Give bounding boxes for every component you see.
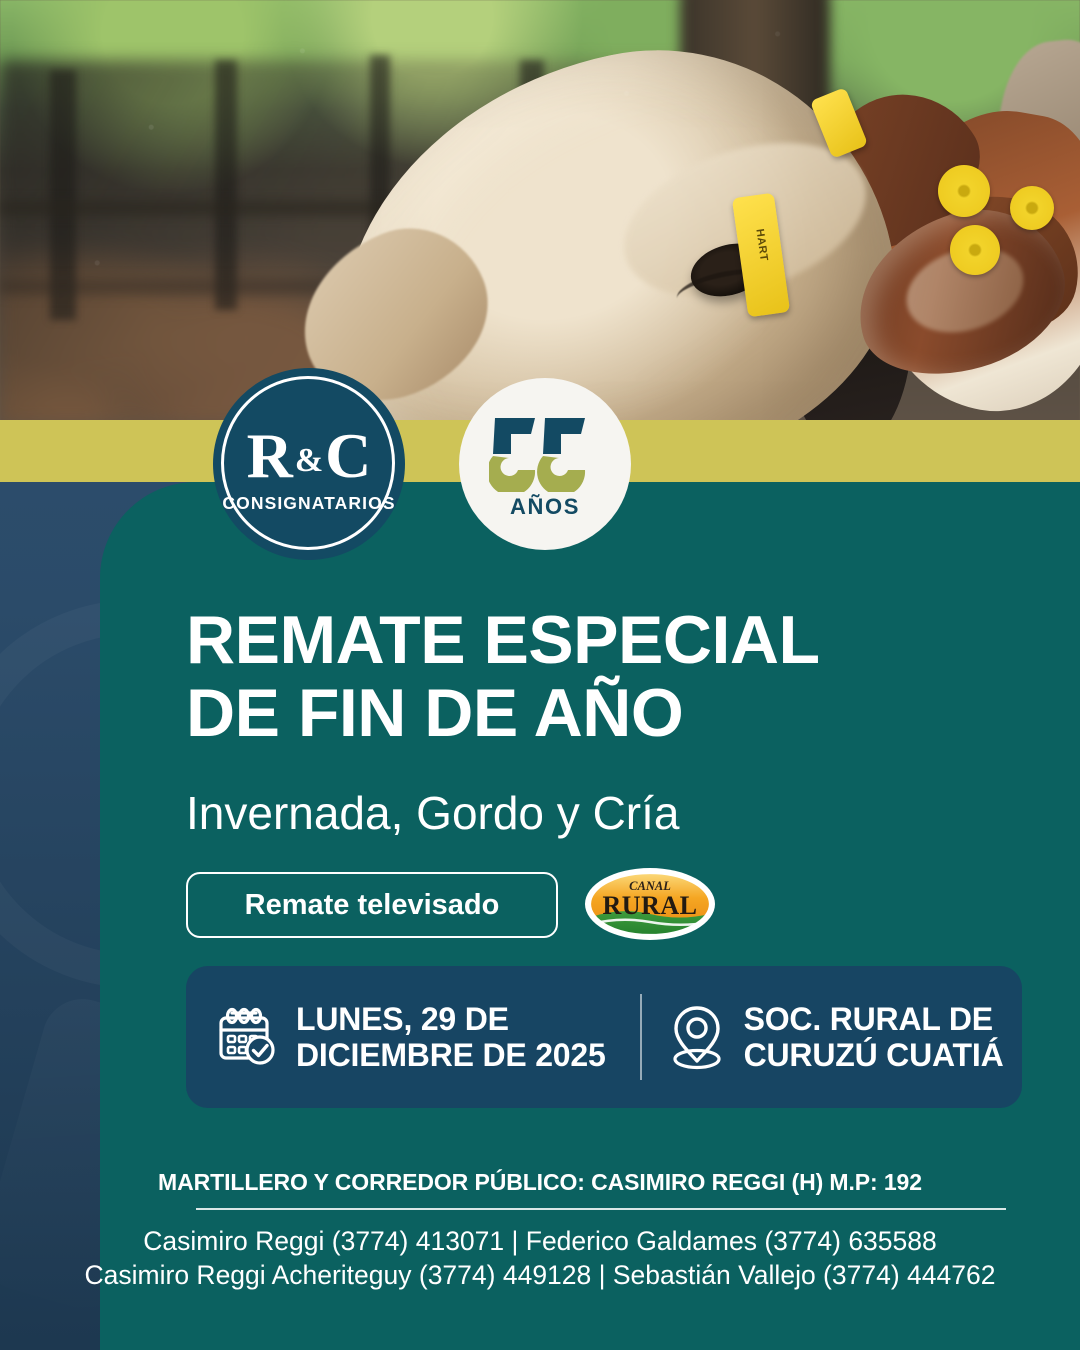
info-divider [640, 994, 642, 1080]
event-venue-cell: SOC. RURAL DE CURUZÚ CUATIÁ [668, 1001, 1004, 1073]
event-venue-line-2: CURUZÚ CUATIÁ [744, 1037, 1004, 1073]
event-date-line-1: LUNES, 29 DE [296, 1001, 606, 1037]
canal-rural-icon: CANAL RURAL [583, 866, 717, 942]
logo-canal-rural: CANAL RURAL [583, 866, 717, 942]
logo-rc-consignatarios: R & C CONSIGNATARIOS [213, 368, 405, 560]
anniversary-number-graphic [489, 408, 601, 492]
calendar-icon [216, 1006, 278, 1068]
footer-contacts-line-1: Casimiro Reggi (3774) 413071 | Federico … [0, 1224, 1080, 1258]
title-line-1: REMATE ESPECIAL [186, 604, 1006, 677]
event-info-box: LUNES, 29 DE DICIEMBRE DE 2025 SOC. RURA… [186, 966, 1022, 1108]
hero-photo-cattle: HART [0, 0, 1080, 424]
event-date-text: LUNES, 29 DE DICIEMBRE DE 2025 [296, 1001, 606, 1073]
footer-title: MARTILLERO Y CORREDOR PÚBLICO: CASIMIRO … [0, 1168, 1080, 1196]
fifty-five-icon [489, 408, 601, 492]
event-venue-text: SOC. RURAL DE CURUZÚ CUATIÁ [744, 1001, 1004, 1073]
event-date-line-2: DICIEMBRE DE 2025 [296, 1037, 606, 1073]
event-venue-line-1: SOC. RURAL DE [744, 1001, 1004, 1037]
poster-root: HART R & C CONSIGNATARIOS [0, 0, 1080, 1350]
location-pin-icon [668, 1003, 726, 1071]
page-subtitle: Invernada, Gordo y Cría [186, 788, 1006, 838]
photo-dust-specks [0, 0, 1080, 424]
logo-monogram: R & C [247, 424, 372, 488]
logo-letter-c: C [325, 424, 371, 488]
anniversary-label: AÑOS [510, 496, 580, 518]
footer-divider [196, 1208, 1006, 1210]
logo-subtitle: CONSIGNATARIOS [222, 494, 395, 512]
page-title: REMATE ESPECIAL DE FIN DE AÑO [186, 604, 1006, 750]
footer-contacts-line-2: Casimiro Reggi Acheriteguy (3774) 449128… [0, 1258, 1080, 1292]
logo-55-anniversary: AÑOS [459, 378, 631, 550]
title-line-2: DE FIN DE AÑO [186, 677, 1006, 750]
televised-badge[interactable]: Remate televisado [186, 872, 558, 938]
event-date-cell: LUNES, 29 DE DICIEMBRE DE 2025 [216, 1001, 606, 1073]
logo-ampersand: & [295, 444, 323, 478]
logo-letter-r: R [247, 424, 293, 488]
televised-badge-label: Remate televisado [245, 890, 500, 920]
canal-rural-main-word: RURAL [603, 891, 698, 920]
